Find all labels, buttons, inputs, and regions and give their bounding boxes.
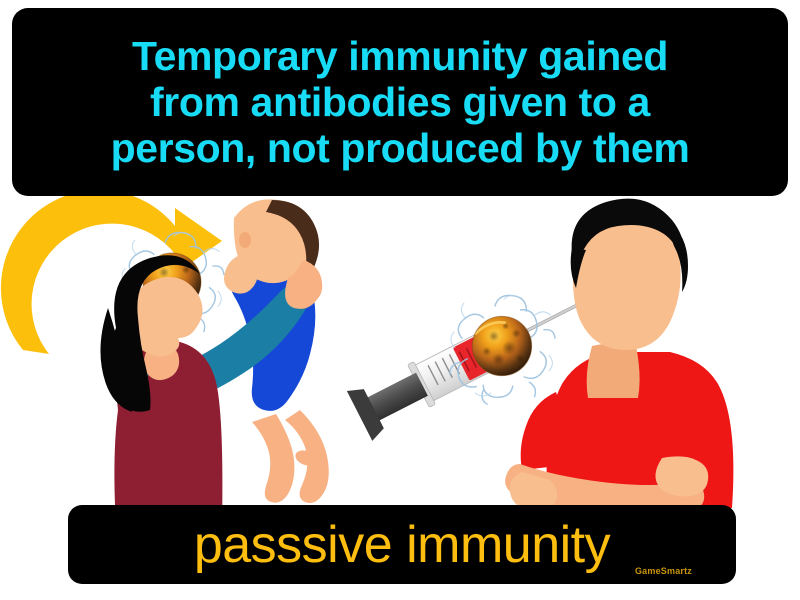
definition-panel: Temporary immunity gained from antibodie… [12,8,788,196]
watermark-label: GameSmartz [635,566,692,576]
mother-and-baby-figure [100,199,328,526]
term-text: passsive immunity [194,519,610,571]
definition-text: Temporary immunity gained from antibodie… [22,33,778,172]
illustration-area [0,196,800,526]
man-figure [505,199,733,518]
definition-card: Temporary immunity gained from antibodie… [0,0,800,600]
immunity-illustration [0,196,800,526]
term-panel: passsive immunity GameSmartz [68,505,736,584]
